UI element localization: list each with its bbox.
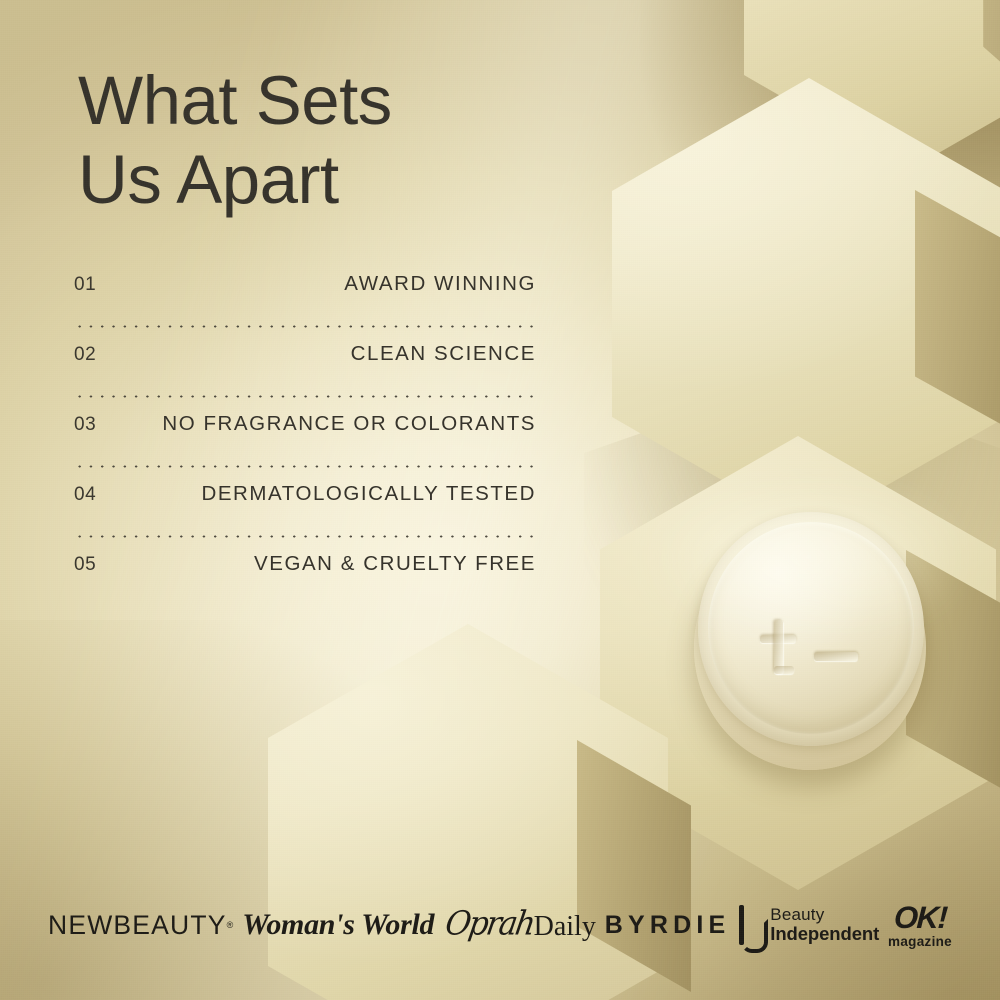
promo-graphic: What Sets Us Apart 01 AWARD WINNING 02 C… <box>0 0 1000 1000</box>
feature-list: 01 AWARD WINNING 02 CLEAN SCIENCE 03 NO … <box>74 272 536 592</box>
ok-wordmark: OK! <box>893 902 947 933</box>
feature-number: 02 <box>74 344 96 366</box>
registered-trademark-icon: ® <box>227 921 234 930</box>
dotted-divider <box>74 312 536 342</box>
feature-row: 01 AWARD WINNING <box>74 272 536 312</box>
feature-label: AWARD WINNING <box>344 272 536 296</box>
press-logo-ok-magazine: OK! magazine <box>888 902 952 949</box>
content-layer: What Sets Us Apart 01 AWARD WINNING 02 C… <box>0 0 1000 1000</box>
feature-number: 01 <box>74 274 96 296</box>
dotted-divider <box>74 382 536 412</box>
beauty-independent-wordmark: Beauty Independent <box>770 906 879 944</box>
feature-row: 05 VEGAN & CRUELTY FREE <box>74 552 536 592</box>
feature-row: 02 CLEAN SCIENCE <box>74 342 536 382</box>
independent-line: Independent <box>770 924 879 944</box>
press-logo-bar: NEWBEAUTY® Woman's World Oprah Daily BYR… <box>0 892 1000 958</box>
newbeauty-wordmark: NEWBEAUTY <box>48 912 227 939</box>
dotted-divider <box>74 452 536 482</box>
feature-number: 05 <box>74 554 96 576</box>
feature-row: 03 NO FRAGRANCE OR COLORANTS <box>74 412 536 452</box>
press-logo-oprah-daily: Oprah Daily <box>443 910 596 941</box>
feature-number: 03 <box>74 414 96 436</box>
byrdie-wordmark: BYRDIE <box>605 913 731 938</box>
beauty-line: Beauty <box>770 906 879 924</box>
oprah-signature: Oprah <box>443 907 536 940</box>
press-logo-newbeauty: NEWBEAUTY® <box>48 912 233 939</box>
press-logo-womans-world: Woman's World <box>242 910 434 940</box>
dotted-divider <box>74 522 536 552</box>
feature-number: 04 <box>74 484 96 506</box>
beauty-independent-b-icon <box>739 905 761 945</box>
press-logo-byrdie: BYRDIE <box>605 913 731 938</box>
feature-label: VEGAN & CRUELTY FREE <box>254 552 536 576</box>
magazine-wordmark: magazine <box>888 935 952 949</box>
feature-label: DERMATOLOGICALLY TESTED <box>201 482 536 506</box>
feature-label: CLEAN SCIENCE <box>351 342 536 366</box>
womans-world-wordmark: Woman's World <box>242 910 434 940</box>
daily-wordmark: Daily <box>534 913 596 941</box>
feature-label: NO FRAGRANCE OR COLORANTS <box>162 412 536 436</box>
feature-row: 04 DERMATOLOGICALLY TESTED <box>74 482 536 522</box>
page-title: What Sets Us Apart <box>78 62 598 219</box>
press-logo-beauty-independent: Beauty Independent <box>739 905 879 945</box>
